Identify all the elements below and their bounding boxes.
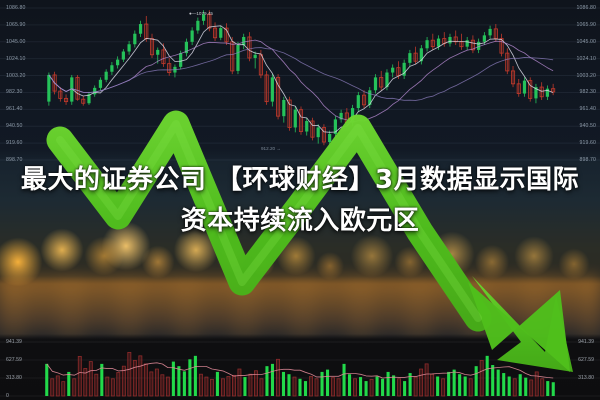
volume-chart-panel: 941.39627.59313.800 941.39627.59313.80 — [0, 334, 600, 400]
news-banner-image: 1086.801065.901045.001024.101003.20982.3… — [0, 0, 600, 400]
candlestick-chart — [0, 0, 600, 162]
price-axis-label-right: 1045.00 — [556, 39, 596, 45]
volume-axis-label-right: 627.59 — [578, 357, 594, 363]
high-marker: ●—1079.45 — [189, 11, 213, 16]
headline: 最大的证券公司 【环球财经】3月数据显示国际 资本持续流入欧元区 — [0, 160, 600, 242]
volume-axis-label-left: 0 — [6, 393, 9, 399]
headline-line-1: 最大的证券公司 【环球财经】3月数据显示国际 — [21, 165, 579, 195]
price-axis-label-right: 1003.20 — [556, 73, 596, 79]
price-axis-label-right: 1086.80 — [556, 5, 596, 11]
price-axis-label-right: 961.40 — [556, 106, 596, 112]
price-axis-label-right: 940.50 — [556, 123, 596, 129]
price-axis-label-left: 1024.10 — [6, 56, 25, 62]
headline-line-2: 资本持续流入欧元区 — [0, 201, 600, 242]
price-chart-panel: 1086.801065.901045.001024.101003.20982.3… — [0, 0, 600, 162]
price-axis-label-left: 961.40 — [6, 106, 22, 112]
price-axis-label-left: 1003.20 — [6, 73, 25, 79]
price-axis-label-right: 982.30 — [556, 89, 596, 95]
volume-axis-label-right: 313.80 — [578, 375, 594, 381]
price-axis-label-right: 919.60 — [556, 140, 596, 146]
volume-axis-label-left: 313.80 — [6, 375, 22, 381]
price-axis-label-left: 1086.80 — [6, 5, 25, 11]
volume-axis-label-left: 941.39 — [6, 339, 22, 345]
volume-axis-label-right: 941.39 — [578, 339, 594, 345]
price-axis-label-right: 1024.10 — [556, 56, 596, 62]
price-axis-label-left: 1045.00 — [6, 39, 25, 45]
price-axis-label-left: 982.30 — [6, 89, 22, 95]
price-axis-label-left: 940.50 — [6, 123, 22, 129]
volume-axis-label-left: 627.59 — [6, 357, 22, 363]
price-axis-label-right: 1065.90 — [556, 22, 596, 28]
price-axis-label-left: 919.60 — [6, 140, 22, 146]
low-marker: 912.20 → — [261, 146, 281, 151]
volume-bar-chart — [0, 334, 600, 400]
price-axis-label-left: 1065.90 — [6, 22, 25, 28]
